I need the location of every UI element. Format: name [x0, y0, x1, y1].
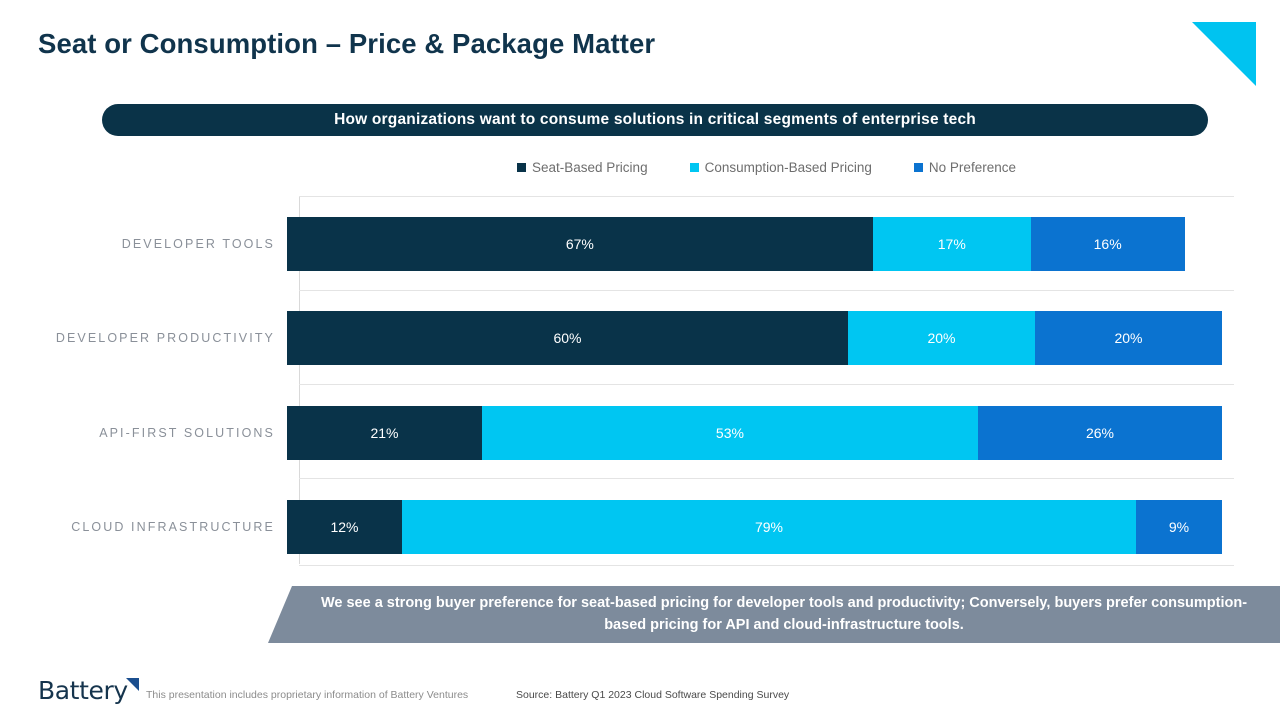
bar-value-no-preference: 9%	[1169, 519, 1189, 535]
bar-track-developer-productivity: 60% 20% 20%	[287, 311, 1222, 365]
page-title: Seat or Consumption – Price & Package Ma…	[38, 28, 655, 60]
battery-logo-text: Battery	[38, 676, 128, 705]
bar-segment-no-preference[interactable]: 20%	[1035, 311, 1222, 365]
bar-value-seat-based: 60%	[553, 330, 581, 346]
footer-proprietary-note: This presentation includes proprietary i…	[146, 689, 468, 701]
bar-segment-seat-based[interactable]: 12%	[287, 500, 402, 554]
category-label-developer-tools: DEVELOPER TOOLS	[0, 237, 287, 251]
legend-swatch-seat-based	[517, 163, 526, 172]
bar-segment-no-preference[interactable]: 9%	[1136, 500, 1222, 554]
legend-item-seat-based[interactable]: Seat-Based Pricing	[517, 160, 648, 175]
subtitle-banner: How organizations want to consume soluti…	[102, 104, 1208, 136]
bar-value-no-preference: 26%	[1086, 425, 1114, 441]
bar-value-consumption-based: 17%	[938, 236, 966, 252]
bar-row-developer-productivity[interactable]: DEVELOPER PRODUCTIVITY 60% 20% 20%	[0, 311, 1280, 365]
bar-row-developer-tools[interactable]: DEVELOPER TOOLS 67% 17% 16%	[0, 217, 1280, 271]
legend-label-no-preference: No Preference	[929, 160, 1016, 175]
battery-logo-triangle-icon	[126, 678, 139, 691]
bar-value-seat-based: 21%	[370, 425, 398, 441]
legend-swatch-consumption-based	[690, 163, 699, 172]
gridline-4	[299, 565, 1234, 566]
legend-item-consumption-based[interactable]: Consumption-Based Pricing	[690, 160, 872, 175]
category-label-developer-productivity: DEVELOPER PRODUCTIVITY	[0, 331, 287, 345]
bar-track-cloud-infrastructure: 12% 79% 9%	[287, 500, 1222, 554]
bar-segment-no-preference[interactable]: 26%	[978, 406, 1222, 460]
bar-segment-consumption-based[interactable]: 20%	[848, 311, 1035, 365]
bar-segment-consumption-based[interactable]: 79%	[402, 500, 1136, 554]
bar-value-no-preference: 16%	[1094, 236, 1122, 252]
gridline-1	[299, 290, 1234, 291]
bar-segment-seat-based[interactable]: 60%	[287, 311, 848, 365]
gridline-2	[299, 384, 1234, 385]
bar-row-cloud-infrastructure[interactable]: CLOUD INFRASTRUCTURE 12% 79% 9%	[0, 500, 1280, 554]
legend-item-no-preference[interactable]: No Preference	[914, 160, 1016, 175]
chart-legend: Seat-Based Pricing Consumption-Based Pri…	[299, 160, 1234, 175]
bar-row-api-first-solutions[interactable]: API-FIRST SOLUTIONS 21% 53% 26%	[0, 406, 1280, 460]
bar-segment-seat-based[interactable]: 21%	[287, 406, 482, 460]
slide-footer: Battery This presentation includes propr…	[0, 672, 1280, 720]
bar-segment-no-preference[interactable]: 16%	[1031, 217, 1185, 271]
bar-track-api-first-solutions: 21% 53% 26%	[287, 406, 1222, 460]
subtitle-banner-text: How organizations want to consume soluti…	[334, 111, 976, 129]
category-label-api-first-solutions: API-FIRST SOLUTIONS	[0, 426, 287, 440]
gridline-3	[299, 478, 1234, 479]
legend-swatch-no-preference	[914, 163, 923, 172]
stacked-bar-chart: DEVELOPER TOOLS 67% 17% 16% DEVELOPER PR…	[0, 190, 1280, 568]
bar-segment-seat-based[interactable]: 67%	[287, 217, 873, 271]
footer-source-note: Source: Battery Q1 2023 Cloud Software S…	[516, 689, 789, 701]
bar-value-no-preference: 20%	[1114, 330, 1142, 346]
legend-label-consumption-based: Consumption-Based Pricing	[705, 160, 872, 175]
corner-accent-triangle	[1192, 22, 1256, 86]
bar-segment-consumption-based[interactable]: 17%	[873, 217, 1031, 271]
bar-track-developer-tools: 67% 17% 16%	[287, 217, 1222, 271]
bar-value-consumption-based: 20%	[927, 330, 955, 346]
bar-value-consumption-based: 79%	[755, 519, 783, 535]
legend-label-seat-based: Seat-Based Pricing	[532, 160, 648, 175]
insight-callout-text: We see a strong buyer preference for sea…	[307, 593, 1262, 635]
bar-value-seat-based: 12%	[330, 519, 358, 535]
battery-logo[interactable]: Battery	[38, 676, 139, 705]
insight-callout: We see a strong buyer preference for sea…	[268, 586, 1280, 643]
bar-segment-consumption-based[interactable]: 53%	[482, 406, 978, 460]
gridline-0	[299, 196, 1234, 197]
bar-value-consumption-based: 53%	[716, 425, 744, 441]
bar-value-seat-based: 67%	[566, 236, 594, 252]
category-label-cloud-infrastructure: CLOUD INFRASTRUCTURE	[0, 520, 287, 534]
